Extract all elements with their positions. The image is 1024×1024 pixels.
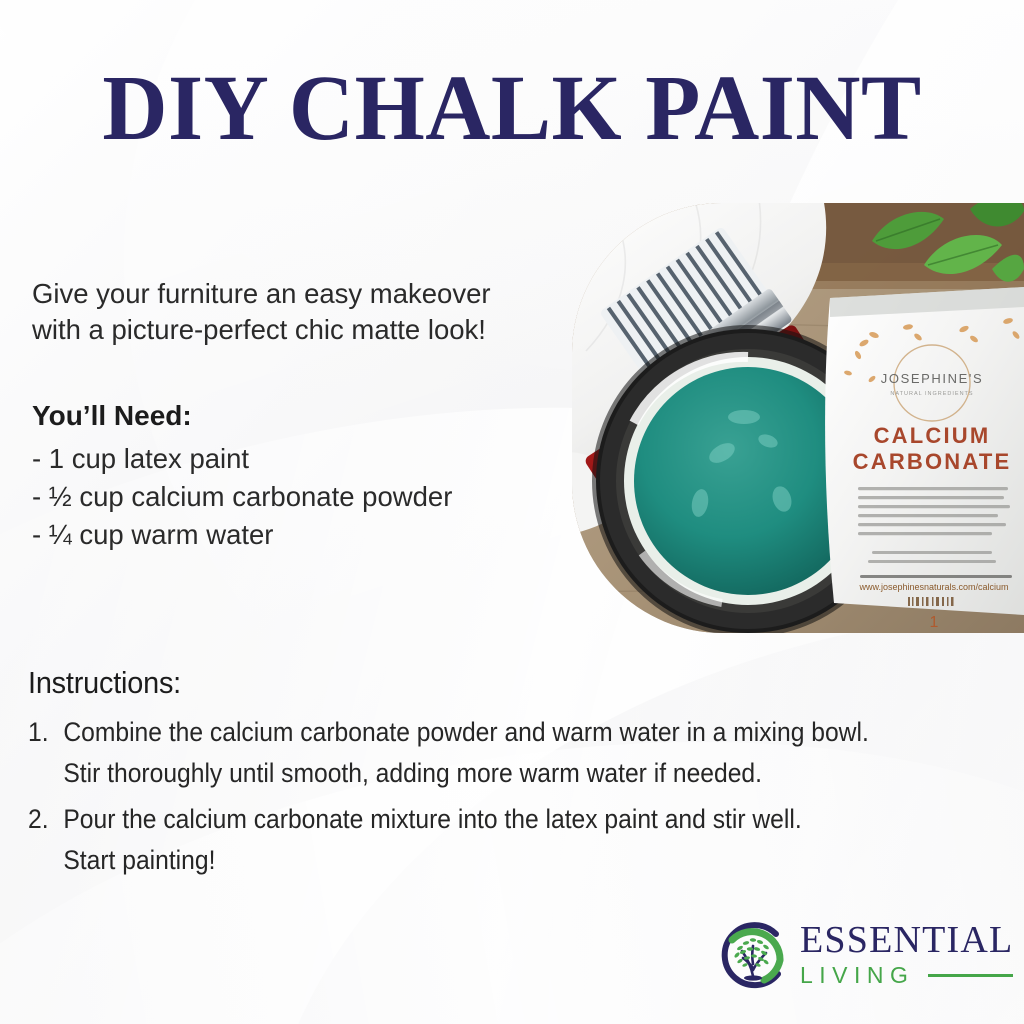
photo-illustration: JOSEPHINE'S NATURAL INGREDIENTS CALCIUM … [572, 203, 1024, 633]
pouch-brand-text: JOSEPHINE'S [881, 371, 983, 386]
step-number: 2. [28, 799, 49, 840]
intro-line-1: Give your furniture an easy makeover [32, 276, 552, 312]
intro-line-2: with a picture-perfect chic matte look! [32, 312, 552, 348]
svg-text:NATURAL INGREDIENTS: NATURAL INGREDIENTS [890, 391, 973, 397]
logo-wordmark: ESSENTIAL LIVING [800, 920, 1013, 988]
step-line-1: Combine the calcium carbonate powder and… [63, 717, 868, 747]
logo-secondary-row: LIVING [800, 962, 1013, 988]
step-line-1: Pour the calcium carbonate mixture into … [63, 804, 801, 834]
page-title: DIY CHALK PAINT [15, 60, 1008, 158]
logo-divider-line [928, 974, 1013, 977]
list-item: 2. Pour the calcium carbonate mixture in… [28, 799, 944, 881]
instructions-heading: Instructions: [28, 665, 181, 701]
recipe-photo: JOSEPHINE'S NATURAL INGREDIENTS CALCIUM … [572, 203, 1024, 633]
logo-primary-text: ESSENTIAL [800, 920, 1013, 960]
list-item: - ½ cup calcium carbonate powder [32, 478, 552, 516]
calcium-carbonate-pouch: JOSEPHINE'S NATURAL INGREDIENTS CALCIUM … [825, 287, 1024, 631]
needs-list: - 1 cup latex paint - ½ cup calcium carb… [32, 440, 552, 554]
step-line-2: Stir thoroughly until smooth, adding mor… [63, 753, 944, 794]
list-item: - 1 cup latex paint [32, 440, 552, 478]
instructions-list: 1. Combine the calcium carbonate powder … [28, 712, 944, 886]
pouch-product-line-2: CARBONATE [853, 449, 1012, 474]
svg-text:www.josephinesnaturals.com/cal: www.josephinesnaturals.com/calcium [858, 582, 1008, 592]
logo-secondary-text: LIVING [800, 962, 914, 988]
intro-paragraph: Give your furniture an easy makeover wit… [32, 276, 552, 348]
step-number: 1. [28, 712, 49, 753]
pouch-weight: 1 [930, 614, 939, 631]
list-item: 1. Combine the calcium carbonate powder … [28, 712, 944, 794]
pouch-product-line-1: CALCIUM [874, 423, 991, 448]
tree-in-circle-icon [716, 918, 792, 994]
poster-canvas: DIY CHALK PAINT Give your furniture an e… [0, 0, 1024, 1024]
brand-logo[interactable]: ESSENTIAL LIVING [716, 914, 1016, 1000]
step-line-2: Start painting! [63, 840, 944, 881]
needs-heading: You’ll Need: [32, 400, 192, 432]
list-item: - ¼ cup warm water [32, 516, 552, 554]
